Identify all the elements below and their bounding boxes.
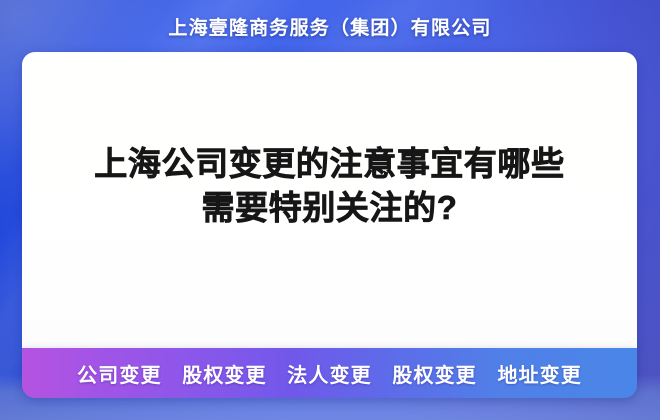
headline-line-2: 需要特别关注的?	[48, 186, 611, 230]
headline-line-1: 上海公司变更的注意事宜有哪些	[48, 142, 611, 186]
footer-tag-company-change[interactable]: 公司变更	[77, 365, 161, 387]
footer-tag-legal-rep-change[interactable]: 法人变更	[287, 365, 371, 387]
poster-header: 上海壹隆商务服务（集团）有限公司	[0, 0, 660, 52]
footer-tag-equity-change-2[interactable]: 股权变更	[392, 365, 476, 387]
headline-block: 上海公司变更的注意事宜有哪些 需要特别关注的?	[22, 142, 637, 230]
content-card: 上海公司变更的注意事宜有哪些 需要特别关注的?	[22, 52, 637, 348]
poster-canvas: 上海壹隆商务服务（集团）有限公司 上海公司变更的注意事宜有哪些 需要特别关注的?…	[0, 0, 660, 420]
footer-tag-equity-change[interactable]: 股权变更	[182, 365, 266, 387]
footer-tag-address-change[interactable]: 地址变更	[497, 365, 581, 387]
company-name-title: 上海壹隆商务服务（集团）有限公司	[168, 13, 491, 40]
footer-tag-bar: 公司变更 股权变更 法人变更 股权变更 地址变更	[22, 348, 637, 398]
footer-tag-list: 公司变更 股权变更 法人变更 股权变更 地址变更	[77, 359, 582, 388]
